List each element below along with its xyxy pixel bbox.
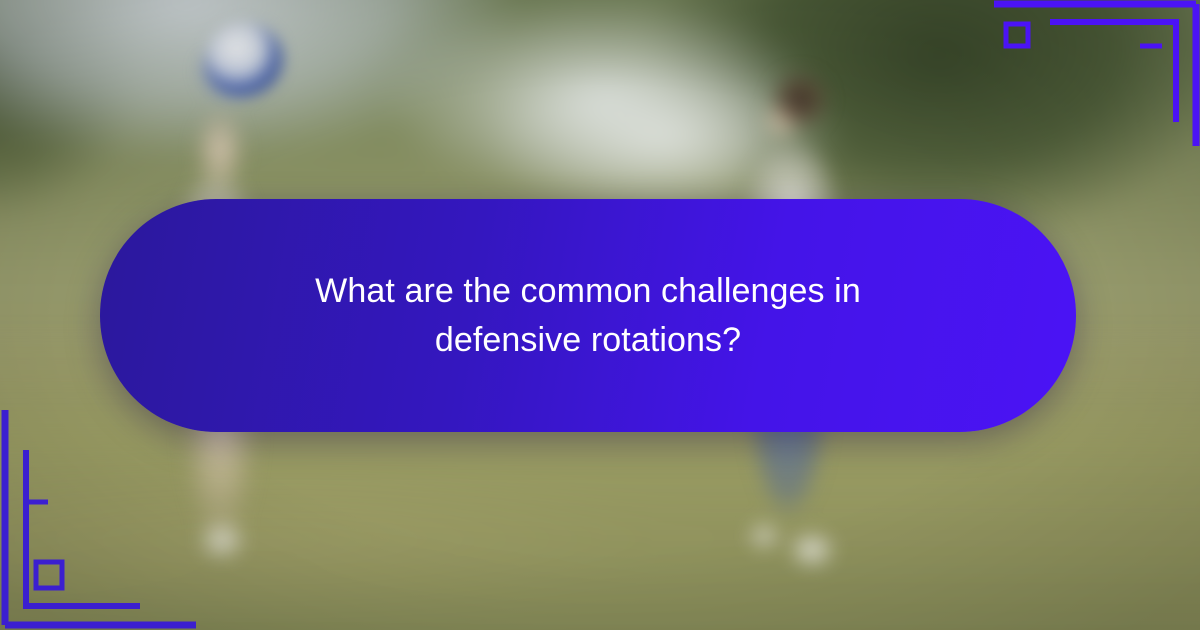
page-title: What are the common challenges in defens… xyxy=(238,267,938,364)
headline-card: What are the common challenges in defens… xyxy=(100,199,1076,432)
social-card-canvas: What are the common challenges in defens… xyxy=(0,0,1200,630)
